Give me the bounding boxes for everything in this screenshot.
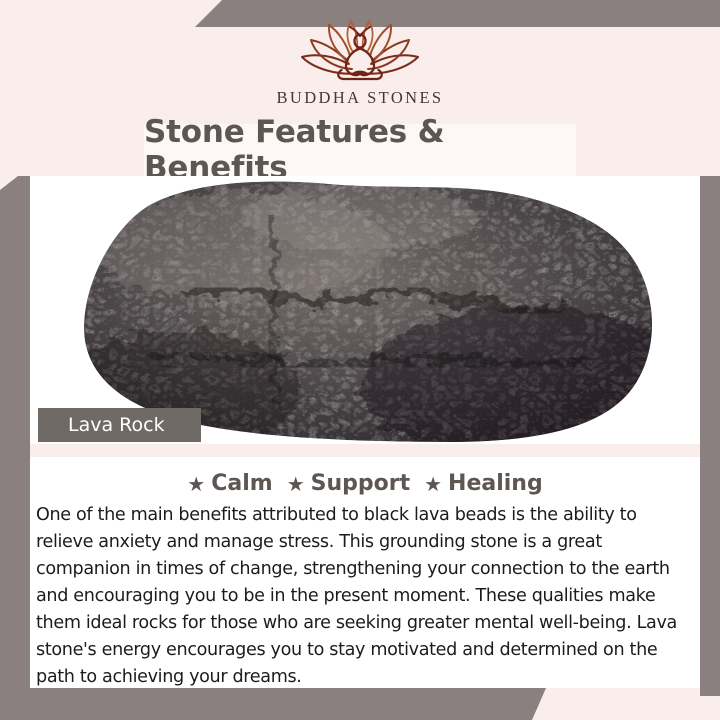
hero-image (30, 176, 700, 444)
frame-band-bottom (0, 688, 546, 720)
feature-list: ★ Calm ★ Support ★ Healing (30, 457, 700, 496)
feature-item-support: ★ Support (287, 471, 410, 496)
lotus-meditation-icon (285, 14, 435, 84)
header: BUDDHA STONES Stone Features & Benefits (0, 0, 720, 176)
benefits-paragraph: One of the main benefits attributed to b… (36, 502, 694, 691)
feature-item-calm: ★ Calm (187, 471, 272, 496)
brand-name: BUDDHA STONES (276, 88, 443, 108)
feature-item-healing: ★ Healing (424, 471, 543, 496)
infographic-page: BUDDHA STONES Stone Features & Benefits (0, 0, 720, 720)
hero-caption: Lava Rock (38, 408, 201, 442)
frame-band-left (0, 176, 30, 696)
divider-strip (30, 444, 700, 457)
star-icon: ★ (187, 474, 205, 494)
content-panel: ★ Calm ★ Support ★ Healing One of the ma… (30, 457, 700, 688)
frame-band-right (700, 176, 720, 696)
feature-label: Calm (211, 471, 272, 496)
lava-rock-illustration (30, 176, 700, 444)
page-title-box: Stone Features & Benefits (144, 124, 576, 176)
star-icon: ★ (424, 474, 442, 494)
feature-label: Support (311, 471, 410, 496)
star-icon: ★ (287, 474, 305, 494)
feature-label: Healing (448, 471, 543, 496)
hero-caption-label: Lava Rock (38, 414, 165, 436)
brand-logo: BUDDHA STONES (0, 14, 720, 108)
